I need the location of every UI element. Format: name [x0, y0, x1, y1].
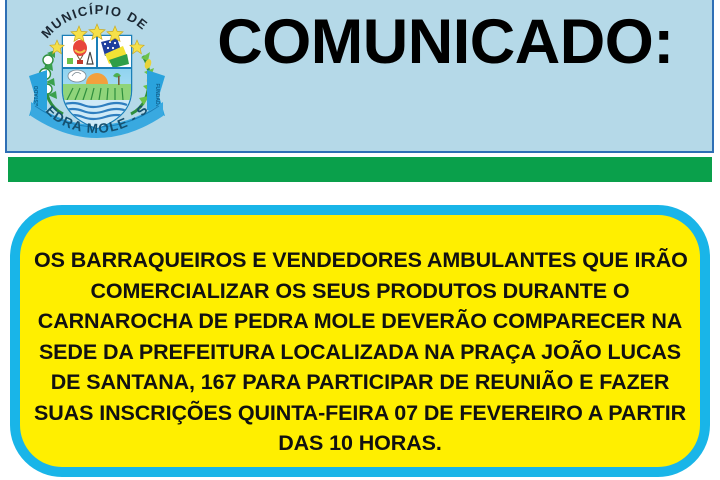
- notice-text: OS BARRAQUEIROS E VENDEDORES AMBULANTES …: [20, 245, 700, 459]
- green-divider-bar: [8, 157, 712, 182]
- notice-line: DAS 10 HORAS.: [34, 428, 686, 459]
- notice-line: CARNAROCHA DE PEDRA MOLE DEVERÃO COMPARE…: [34, 306, 686, 337]
- notice-line: SEDE DA PREFEITURA LOCALIZADA NA PRAÇA J…: [34, 337, 686, 368]
- svg-text:ESTADO: ESTADO: [34, 86, 40, 107]
- page-title: COMUNICADO:: [183, 6, 708, 78]
- notice-line: DE SANTANA, 167 PARA PARTICIPAR DE REUNI…: [34, 367, 686, 398]
- crest-shield: [61, 36, 131, 128]
- notice-line: COMERCIALIZAR OS SEUS PRODUTOS DURANTE O: [34, 276, 686, 307]
- municipal-coat-of-arms-icon: ESTADO FUNDADO: [17, 0, 177, 148]
- announcement-poster: ESTADO FUNDADO: [0, 0, 720, 480]
- notice-line: SUAS INSCRIÇÕES QUINTA-FEIRA 07 DE FEVER…: [34, 398, 686, 429]
- notice-box: OS BARRAQUEIROS E VENDEDORES AMBULANTES …: [10, 205, 710, 477]
- header-panel: ESTADO FUNDADO: [5, 0, 714, 153]
- notice-line: OS BARRAQUEIROS E VENDEDORES AMBULANTES …: [34, 245, 686, 276]
